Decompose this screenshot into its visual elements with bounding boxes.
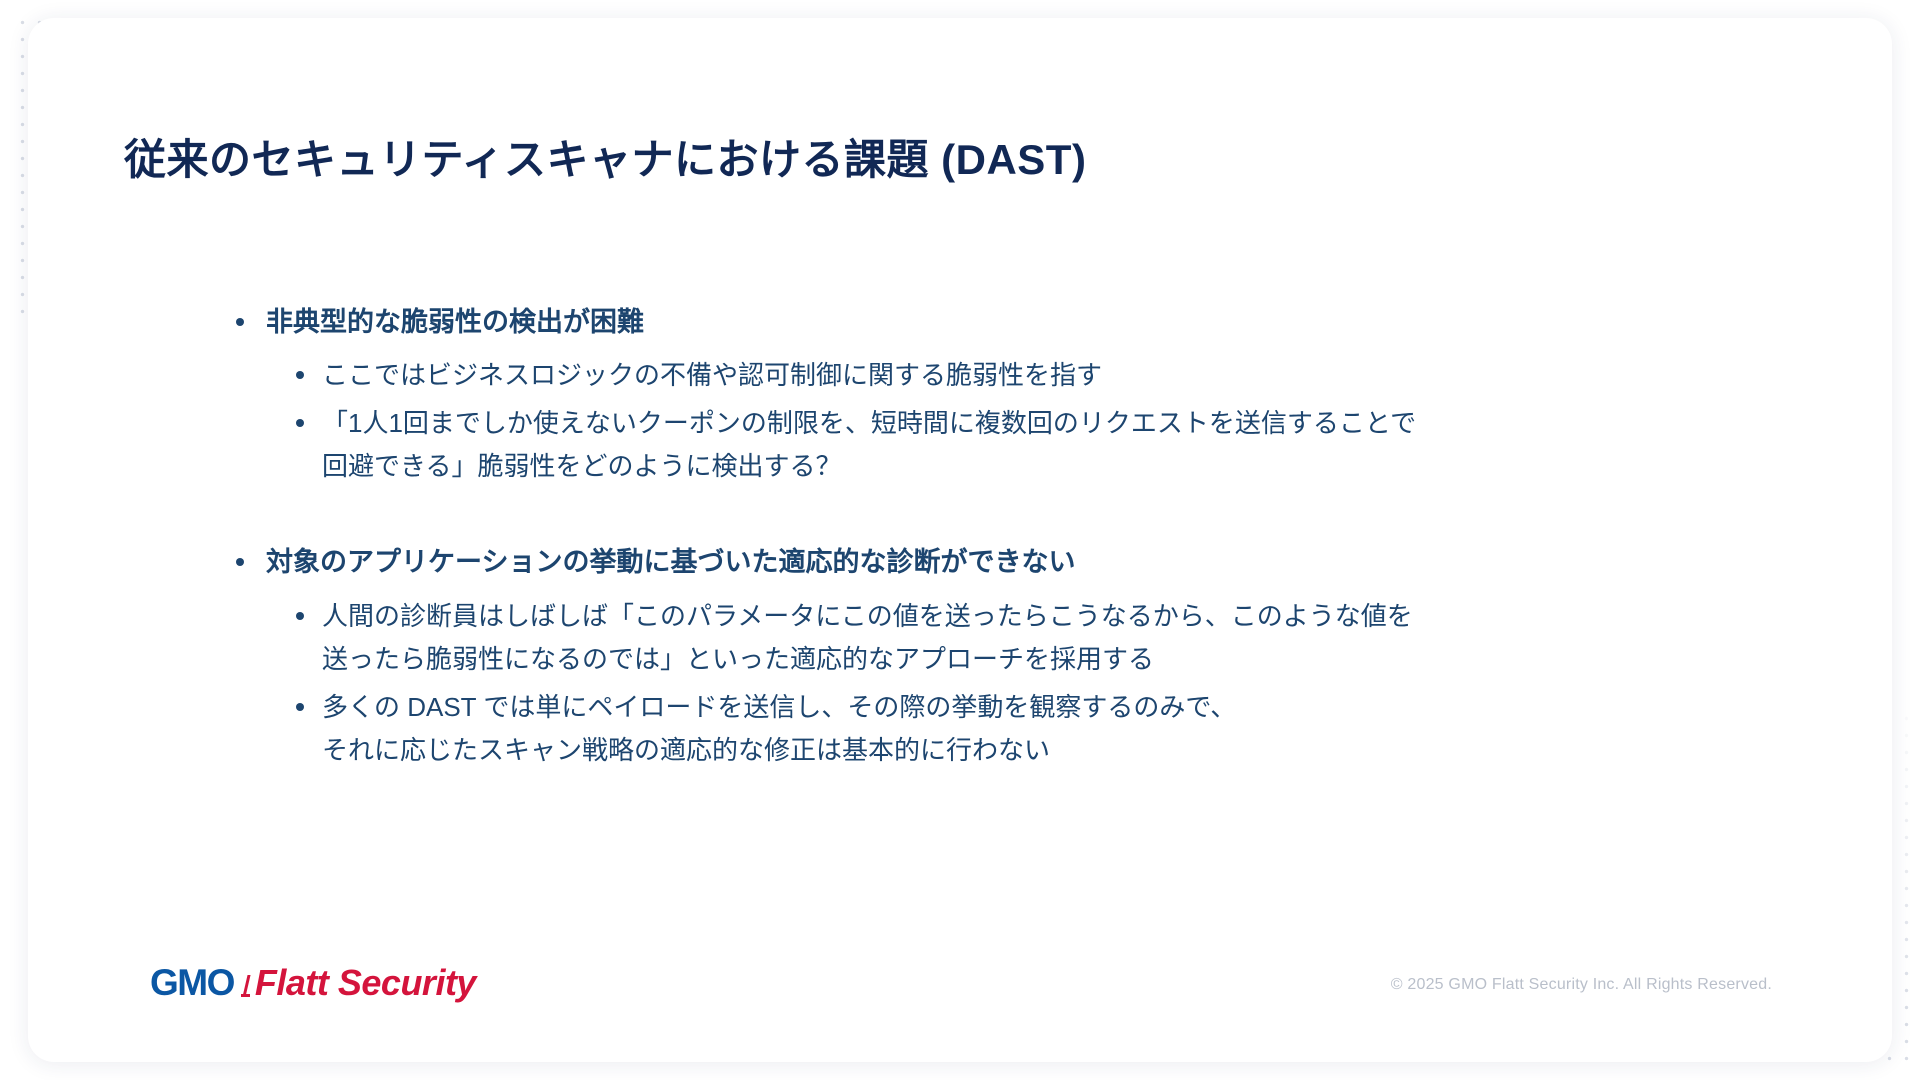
bullet-level2: 人間の診断員はしばしば「このパラメータにこの値を送ったらこうなるから、このような… [290, 595, 1748, 680]
slide-root: 従来のセキュリティスキャナにおける課題 (DAST) 非典型的な脆弱性の検出が困… [0, 0, 1920, 1080]
bullet-level2-line: 人間の診断員はしばしば「このパラメータにこの値を送ったらこうなるから、このような… [322, 595, 1748, 637]
bullet-level2-line: 多くの DAST では単にペイロードを送信し、その際の挙動を観察するのみで、 [322, 686, 1748, 728]
bullet-level2: ここではビジネスロジックの不備や認可制御に関する脆弱性を指す [290, 354, 1748, 396]
slide-card: 従来のセキュリティスキャナにおける課題 (DAST) 非典型的な脆弱性の検出が困… [28, 18, 1892, 1062]
bullet-level2-line: 「1人1回までしか使えないクーポンの制限を、短時間に複数回のリクエストを送信する… [322, 402, 1748, 444]
logo-gmo-text: GMO [150, 962, 234, 1004]
bullet-level1: 対象のアプリケーションの挙動に基づいた適応的な診断ができない [228, 543, 1748, 582]
bullet-dot-icon [296, 419, 304, 427]
bullet-group: 対象のアプリケーションの挙動に基づいた適応的な診断ができない 人間の診断員はしば… [228, 543, 1748, 771]
logo-checkmark-icon [241, 975, 253, 997]
bullet-dot-icon [296, 371, 304, 379]
logo-flatt-security-text: Flatt Security [255, 962, 476, 1004]
copyright-text: © 2025 GMO Flatt Security Inc. All Right… [1391, 976, 1772, 994]
bullet-group: 非典型的な脆弱性の検出が困難 ここではビジネスロジックの不備や認可制御に関する脆… [228, 303, 1748, 487]
bullet-level2: 多くの DAST では単にペイロードを送信し、その際の挙動を観察するのみで、 そ… [290, 686, 1748, 771]
bullet-level2-line: 送ったら脆弱性になるのでは」といった適応的なアプローチを採用する [322, 638, 1748, 680]
bullet-level2: 「1人1回までしか使えないクーポンの制限を、短時間に複数回のリクエストを送信する… [290, 402, 1748, 487]
bullet-level2-line: それに応じたスキャン戦略の適応的な修正は基本的に行わない [322, 729, 1748, 771]
slide-body: 非典型的な脆弱性の検出が困難 ここではビジネスロジックの不備や認可制御に関する脆… [228, 303, 1748, 771]
bullet-dot-icon [296, 703, 304, 711]
bullet-dot-icon [236, 318, 244, 326]
bullet-level1-label: 非典型的な脆弱性の検出が困難 [266, 307, 644, 337]
bullet-level2-line: 回避できる」脆弱性をどのように検出する？ [322, 445, 1748, 487]
page-title: 従来のセキュリティスキャナにおける課題 (DAST) [124, 126, 1086, 187]
bullet-level1: 非典型的な脆弱性の検出が困難 [228, 303, 1748, 342]
brand-logo: GMO Flatt Security [150, 962, 476, 1004]
bullet-level2-list: 人間の診断員はしばしば「このパラメータにこの値を送ったらこうなるから、このような… [290, 595, 1748, 771]
bullet-level1-label: 対象のアプリケーションの挙動に基づいた適応的な診断ができない [266, 547, 1075, 577]
bullet-dot-icon [236, 558, 244, 566]
bullet-level2-line: ここではビジネスロジックの不備や認可制御に関する脆弱性を指す [322, 354, 1748, 396]
bullet-level2-list: ここではビジネスロジックの不備や認可制御に関する脆弱性を指す 「1人1回までしか… [290, 354, 1748, 487]
bullet-dot-icon [296, 612, 304, 620]
